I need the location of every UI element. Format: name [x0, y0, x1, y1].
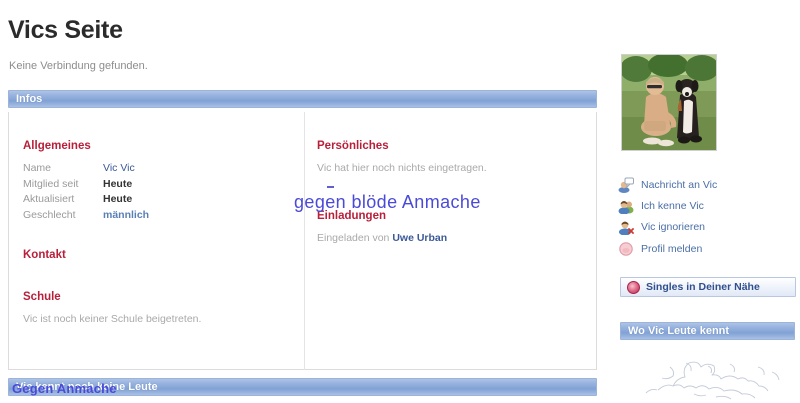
map-outline-icon	[620, 342, 796, 403]
sidebar-item-know-label: Ich kenne Vic	[641, 200, 704, 212]
section-header-wo-vic: Wo Vic Leute kennt	[620, 322, 795, 340]
sidebar-item-know[interactable]: Ich kenne Vic	[618, 196, 798, 215]
field-label-aktualisiert: Aktualisiert	[23, 192, 103, 208]
message-person-icon	[618, 177, 634, 193]
field-value-aktualisiert: Heute	[103, 192, 132, 208]
sidebar-item-report-label: Profil melden	[641, 243, 702, 255]
person-block-icon	[618, 219, 634, 235]
singles-button-label: Singles in Deiner Nähe	[646, 281, 760, 293]
sidebar-item-message-label: Nachricht an Vic	[641, 179, 717, 191]
profile-photo-image	[622, 55, 716, 150]
two-people-icon	[618, 198, 634, 214]
section-header-infos: Infos	[8, 90, 597, 108]
field-value-geschlecht: männlich	[103, 208, 149, 224]
profile-page: Vics Seite Keine Verbindung gefunden. In…	[0, 0, 800, 403]
field-label-name: Name	[23, 161, 103, 177]
overlay-annotation-primary: gegen blöde Anmache	[294, 192, 481, 213]
page-title: Vics Seite	[8, 16, 123, 45]
section-kontakt: Kontakt	[23, 249, 293, 261]
overlay-annotation-secondary: Gegen Anmache	[12, 381, 117, 396]
singles-button[interactable]: Singles in Deiner Nähe	[620, 277, 796, 297]
section-persoenliches-text: Vic hat hier noch nichts eingetragen.	[317, 161, 582, 176]
section-persoenliches: Persönliches Vic hat hier noch nichts ei…	[317, 140, 582, 176]
section-einladungen-text: Eingeladen von Uwe Urban	[317, 231, 582, 246]
rose-icon	[627, 281, 640, 294]
field-value-name[interactable]: Vic Vic	[103, 161, 135, 177]
section-allgemeines: Allgemeines Name Vic Vic Mitglied seit H…	[23, 140, 293, 223]
section-header-wo-vic-label: Wo Vic Leute kennt	[628, 325, 729, 337]
table-row: Aktualisiert Heute	[23, 192, 293, 208]
field-label-geschlecht: Geschlecht	[23, 208, 103, 224]
sidebar-item-ignore[interactable]: Vic ignorieren	[618, 217, 798, 236]
section-kontakt-heading: Kontakt	[23, 249, 293, 261]
section-schule-text: Vic ist noch keiner Schule beigetreten.	[23, 312, 293, 327]
table-row: Name Vic Vic	[23, 161, 293, 177]
section-header-infos-label: Infos	[16, 93, 42, 105]
field-value-mitglied-seit: Heute	[103, 177, 132, 193]
avatar[interactable]	[621, 54, 717, 151]
overlay-tick-mark	[327, 186, 334, 188]
section-persoenliches-heading: Persönliches	[317, 140, 582, 152]
column-left: Allgemeines Name Vic Vic Mitglied seit H…	[23, 140, 293, 353]
inviter-link[interactable]: Uwe Urban	[392, 232, 447, 244]
sidebar-item-report[interactable]: Profil melden	[618, 239, 798, 258]
table-row: Geschlecht männlich	[23, 208, 293, 224]
section-allgemeines-heading: Allgemeines	[23, 140, 293, 152]
table-row: Mitglied seit Heute	[23, 177, 293, 193]
section-schule-heading: Schule	[23, 291, 293, 303]
invited-by-prefix: Eingeladen von	[317, 232, 392, 244]
report-circle-icon	[618, 241, 634, 257]
info-panel: Allgemeines Name Vic Vic Mitglied seit H…	[8, 112, 597, 370]
sidebar-item-ignore-label: Vic ignorieren	[641, 221, 705, 233]
connection-status-text: Keine Verbindung gefunden.	[9, 60, 148, 72]
section-schule: Schule Vic ist noch keiner Schule beiget…	[23, 291, 293, 327]
sidebar-item-message[interactable]: Nachricht an Vic	[618, 175, 798, 194]
field-label-mitglied-seit: Mitglied seit	[23, 177, 103, 193]
map-thumbnail[interactable]	[620, 342, 796, 403]
column-divider	[304, 112, 305, 370]
section-einladungen: Einladungen Eingeladen von Uwe Urban	[317, 210, 582, 246]
